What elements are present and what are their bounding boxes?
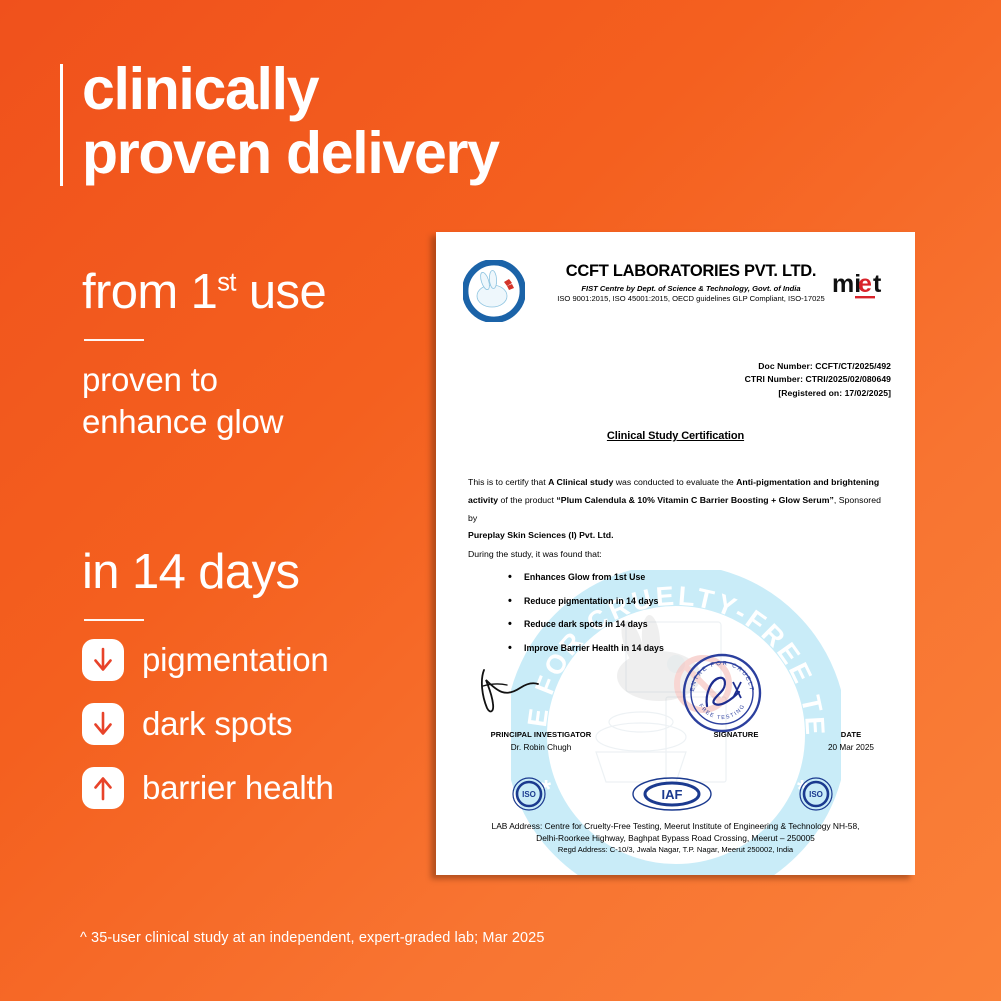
headline-line-1: clinically bbox=[82, 58, 602, 122]
findings-list: Enhances Glow from 1st Use Reduce pigmen… bbox=[508, 572, 883, 653]
date-caption: DATE bbox=[806, 730, 896, 739]
finding-item: Reduce pigmentation in 14 days bbox=[508, 596, 883, 607]
svg-text:CENTRE FOR CRUELTY: CENTRE FOR CRUELTY bbox=[681, 652, 754, 692]
principal-investigator-caption: PRINCIPAL INVESTIGATOR bbox=[466, 730, 616, 739]
iaf-seal-center: IAF bbox=[632, 777, 712, 811]
headline-accent-bar bbox=[60, 64, 63, 186]
iaf-seal-label: IAF bbox=[662, 787, 683, 802]
date-value: 20 Mar 2025 bbox=[806, 743, 896, 752]
miet-logo: mi e t bbox=[831, 266, 893, 306]
footnote-disclaimer: ^ 35-user clinical study at an independe… bbox=[80, 930, 545, 946]
signature-column: SIGNATURE bbox=[691, 730, 781, 739]
certificate-paragraph-4: During the study, it was found that: bbox=[468, 546, 883, 564]
first-use-title-superscript: st bbox=[217, 269, 236, 297]
para-2-c: “Plum Calendula & 10% Vitamin C Barrier … bbox=[556, 495, 833, 505]
section-14-days: in 14 days pigmentation dark spots barri… bbox=[82, 548, 334, 831]
benefit-row: pigmentation bbox=[82, 639, 334, 681]
headline-line-2: proven delivery bbox=[82, 122, 602, 186]
signature-row: PRINCIPAL INVESTIGATOR Dr. Robin Chugh S… bbox=[436, 730, 915, 760]
company-name: CCFT LABORATORIES PVT. LTD. bbox=[541, 262, 841, 281]
benefit-label: pigmentation bbox=[142, 641, 329, 679]
fourteen-days-title: in 14 days bbox=[82, 548, 334, 597]
certificate-paragraph-1: This is to certify that A Clinical study… bbox=[468, 474, 883, 492]
para-1-c: was conducted to evaluate the bbox=[613, 477, 736, 487]
lab-address-line-2: Delhi-Roorkee Highway, Baghpat Bypass Ro… bbox=[436, 832, 915, 844]
signature-caption: SIGNATURE bbox=[691, 730, 781, 739]
certificate-company-block: CCFT LABORATORIES PVT. LTD. FIST Centre … bbox=[541, 262, 841, 303]
arrow-down-icon bbox=[82, 703, 124, 745]
certificate-document: CENTRE FOR CRUELTY-FREE TESTING www.cent… bbox=[436, 232, 915, 875]
doc-number: Doc Number: CCFT/CT/2025/492 bbox=[745, 360, 891, 373]
first-use-sub-line-2: enhance glow bbox=[82, 401, 326, 443]
iso-seal-left: ISO bbox=[512, 777, 546, 811]
iso-seal-right: ISO bbox=[799, 777, 833, 811]
para-2-b: of the product bbox=[498, 495, 556, 505]
page-headline: clinically proven delivery bbox=[82, 58, 602, 185]
lab-address-line-1: LAB Address: Centre for Cruelty-Free Tes… bbox=[436, 820, 915, 832]
miet-logo-text-black-1: mi bbox=[832, 270, 861, 298]
first-use-title-prefix: from 1 bbox=[82, 265, 217, 319]
first-use-divider bbox=[84, 339, 144, 341]
official-blue-stamp: CENTRE FOR CRUELTY FREE TESTING bbox=[681, 652, 763, 734]
regd-address-line: Regd Address: C-10/3, Jwala Nagar, T.P. … bbox=[436, 844, 915, 855]
certificate-footer-address: LAB Address: Centre for Cruelty-Free Tes… bbox=[436, 820, 915, 855]
document-numbers: Doc Number: CCFT/CT/2025/492 CTRI Number… bbox=[745, 360, 891, 400]
finding-item: Enhances Glow from 1st Use bbox=[508, 572, 883, 583]
certificate-title: Clinical Study Certification bbox=[436, 430, 915, 442]
certificate-header: CCFT LABORATORIES PVT. LTD. FIST Centre … bbox=[436, 254, 915, 326]
para-3: Pureplay Skin Sciences (I) Pvt. Ltd. bbox=[468, 530, 614, 540]
registered-on: [Registered on: 17/02/2025] bbox=[745, 387, 891, 400]
miet-logo-text-black-2: t bbox=[873, 270, 882, 298]
principal-investigator-column: PRINCIPAL INVESTIGATOR Dr. Robin Chugh bbox=[466, 730, 616, 752]
para-2-a: activity bbox=[468, 495, 498, 505]
date-column: DATE 20 Mar 2025 bbox=[806, 730, 896, 752]
benefit-label: dark spots bbox=[142, 705, 292, 743]
accreditation-seals: ISO IAF ISO bbox=[436, 777, 915, 817]
iso-seal-label-right: ISO bbox=[809, 790, 823, 799]
benefit-row: barrier health bbox=[82, 767, 334, 809]
certificate-paragraph-2: activity of the product “Plum Calendula … bbox=[468, 492, 883, 528]
arrow-down-icon bbox=[82, 639, 124, 681]
finding-item: Reduce dark spots in 14 days bbox=[508, 619, 883, 630]
ccft-cruelty-free-logo bbox=[463, 260, 525, 322]
benefit-row: dark spots bbox=[82, 703, 334, 745]
arrow-up-icon bbox=[82, 767, 124, 809]
iso-seal-label: ISO bbox=[522, 790, 536, 799]
handwritten-signature bbox=[474, 664, 544, 716]
benefit-label: barrier health bbox=[142, 769, 334, 807]
company-subtitle-1: FIST Centre by Dept. of Science & Techno… bbox=[541, 284, 841, 293]
para-1-d: Anti-pigmentation and brightening bbox=[736, 477, 879, 487]
miet-logo-text-red: e bbox=[858, 270, 872, 298]
section-first-use: from 1st use proven to enhance glow bbox=[82, 268, 326, 443]
para-1-b: A Clinical study bbox=[548, 477, 613, 487]
first-use-title-suffix: use bbox=[236, 265, 326, 319]
company-subtitle-2: ISO 9001:2015, ISO 45001:2015, OECD guid… bbox=[541, 294, 841, 303]
fourteen-days-divider bbox=[84, 619, 144, 621]
ctri-number: CTRI Number: CTRI/2025/02/080649 bbox=[745, 373, 891, 386]
para-1-a: This is to certify that bbox=[468, 477, 548, 487]
certificate-body: This is to certify that A Clinical study… bbox=[468, 474, 883, 666]
principal-investigator-name: Dr. Robin Chugh bbox=[466, 743, 616, 752]
certificate-paragraph-3: Pureplay Skin Sciences (I) Pvt. Ltd. bbox=[468, 527, 883, 545]
first-use-title: from 1st use bbox=[82, 268, 326, 317]
first-use-sub-line-1: proven to bbox=[82, 359, 326, 401]
